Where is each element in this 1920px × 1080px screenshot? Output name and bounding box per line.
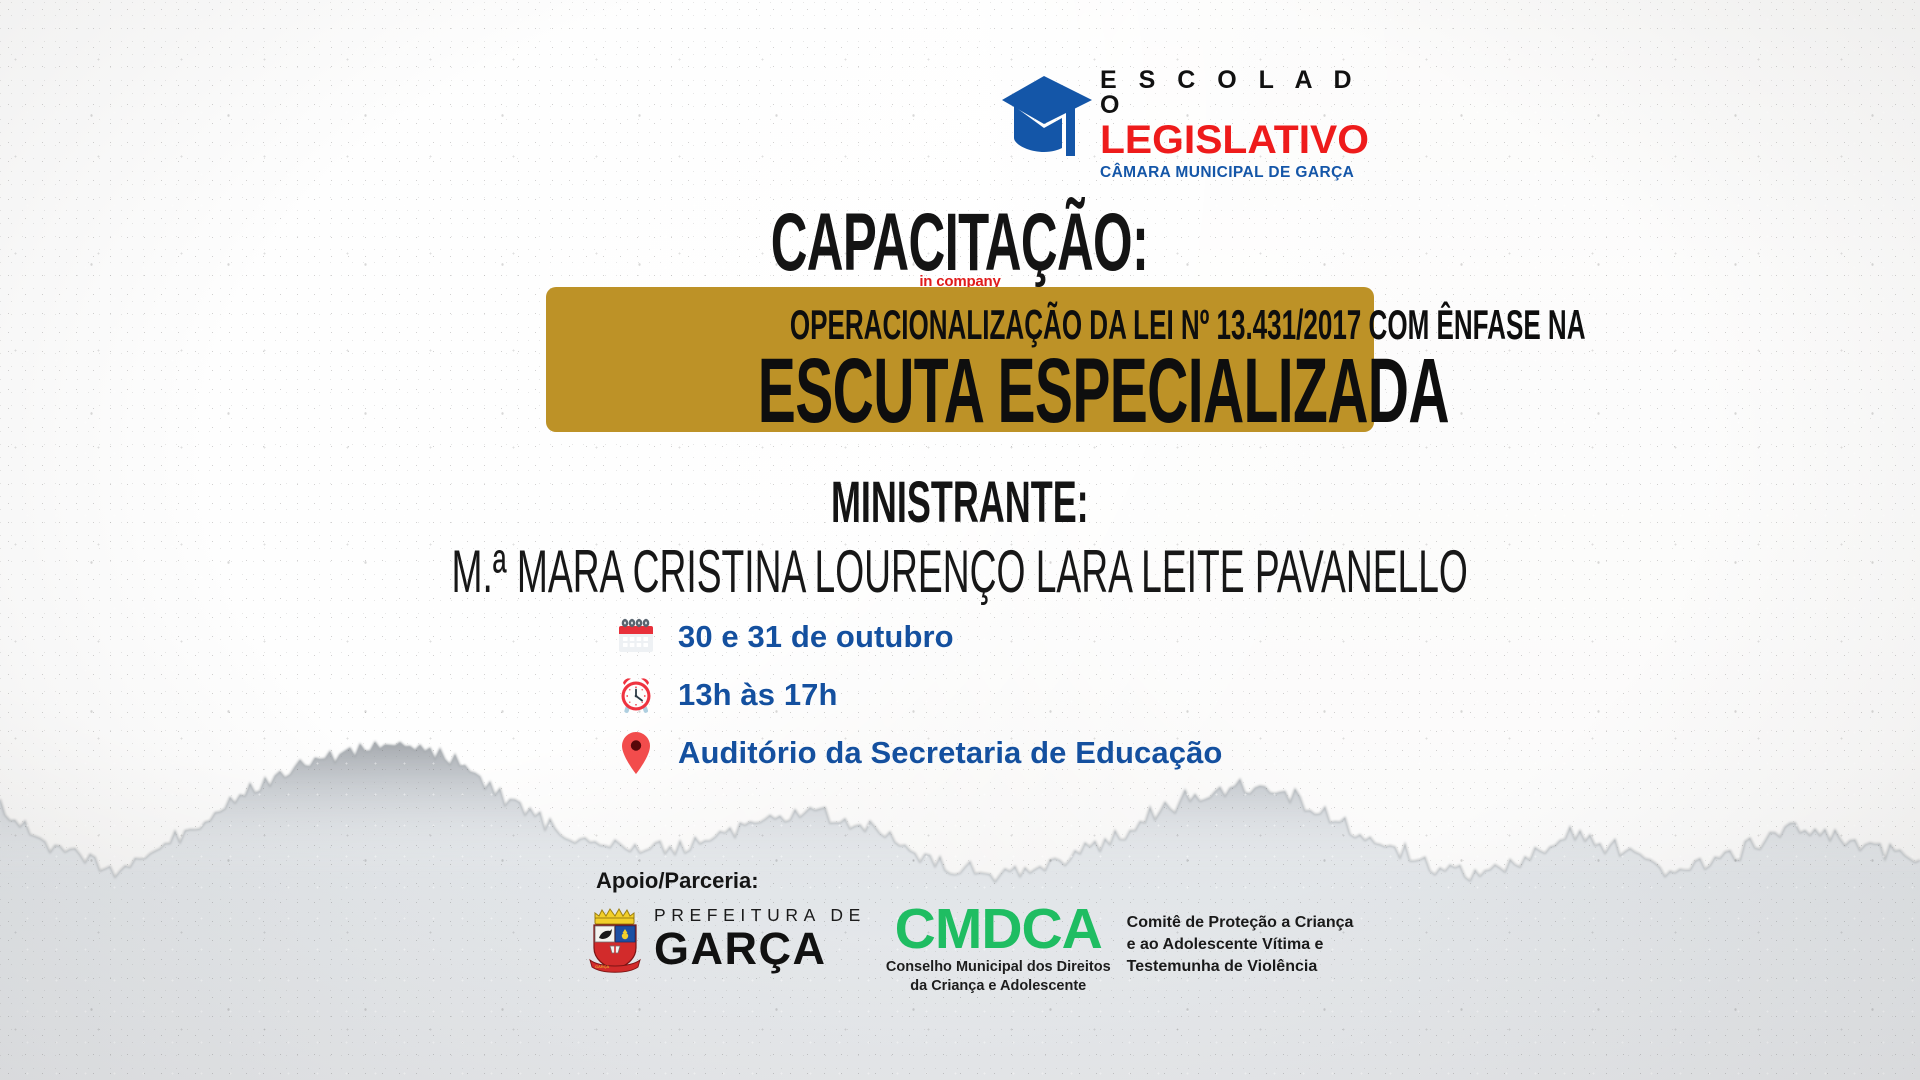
partner-logos: GARÇA PREFEITURA DE GARÇA CMDCA Conselho… — [586, 902, 1353, 996]
prefeitura-wordmark: PREFEITURA DE GARÇA — [654, 907, 866, 972]
speaker-label-text: MINISTRANTE: — [831, 469, 1089, 536]
support-label: Apoio/Parceria: — [596, 868, 759, 894]
alarm-clock-icon — [608, 673, 664, 717]
course-title-band: OPERACIONALIZAÇÃO DA LEI Nº 13.431/2017 … — [546, 287, 1374, 432]
cmdca-acronym: CMDCA — [886, 902, 1111, 957]
prefeitura-big-text: GARÇA — [654, 926, 866, 971]
detail-text-location: Auditório da Secretaria de Educação — [678, 735, 1222, 771]
svg-text:GARÇA: GARÇA — [595, 964, 610, 969]
speaker-label: MINISTRANTE: — [0, 469, 1920, 536]
coat-of-arms-icon: GARÇA — [586, 902, 644, 976]
comite-line-2: e ao Adolescente Vítima e — [1127, 934, 1354, 956]
comite-line-1: Comitê de Proteção a Criança — [1127, 912, 1354, 934]
cmdca-subtitle-line-2: da Criança e Adolescente — [886, 977, 1111, 996]
cmdca-subtitle-line-1: Conselho Municipal dos Direitos — [886, 958, 1111, 977]
event-details-list: 30 e 31 de outubro — [608, 608, 1222, 782]
prefeitura-small-text: PREFEITURA DE — [654, 907, 866, 925]
detail-text-time: 13h às 17h — [678, 677, 838, 713]
comite-line-3: Testemunha de Violência — [1127, 956, 1354, 978]
speaker-name-text: M.ª MARA CRISTINA LOURENÇO LARA LEITE PA… — [452, 537, 1468, 606]
band-line-2-text: ESCUTA ESPECIALIZADA — [758, 339, 1449, 444]
logo-line-escola: E S C O L A D O — [1100, 68, 1364, 118]
escola-do-legislativo-logo: E S C O L A D O LEGISLATIVO CÂMARA MUNIC… — [1000, 68, 1360, 168]
partner-prefeitura-garca: GARÇA PREFEITURA DE GARÇA — [586, 902, 866, 976]
logo-line-camara: CÂMARA MUNICIPAL DE GARÇA — [1100, 165, 1364, 181]
poster-canvas: E S C O L A D O LEGISLATIVO CÂMARA MUNIC… — [0, 0, 1920, 1080]
detail-row-date: 30 e 31 de outubro — [608, 608, 1222, 666]
partner-comite-protecao: Comitê de Proteção a Criança e ao Adoles… — [1127, 912, 1354, 978]
map-pin-icon — [608, 729, 664, 777]
calendar-icon — [608, 615, 664, 659]
partner-cmdca: CMDCA Conselho Municipal dos Direitos da… — [886, 902, 1111, 996]
graduation-cap-icon — [1000, 72, 1096, 164]
logo-line-legislativo: LEGISLATIVO — [1100, 119, 1369, 161]
detail-row-location: Auditório da Secretaria de Educação — [608, 724, 1222, 782]
detail-text-date: 30 e 31 de outubro — [678, 619, 954, 655]
logo-wordmark: E S C O L A D O LEGISLATIVO CÂMARA MUNIC… — [1100, 68, 1364, 181]
band-line-2: ESCUTA ESPECIALIZADA — [546, 339, 1374, 444]
speaker-name: M.ª MARA CRISTINA LOURENÇO LARA LEITE PA… — [0, 537, 1920, 606]
detail-row-time: 13h às 17h — [608, 666, 1222, 724]
